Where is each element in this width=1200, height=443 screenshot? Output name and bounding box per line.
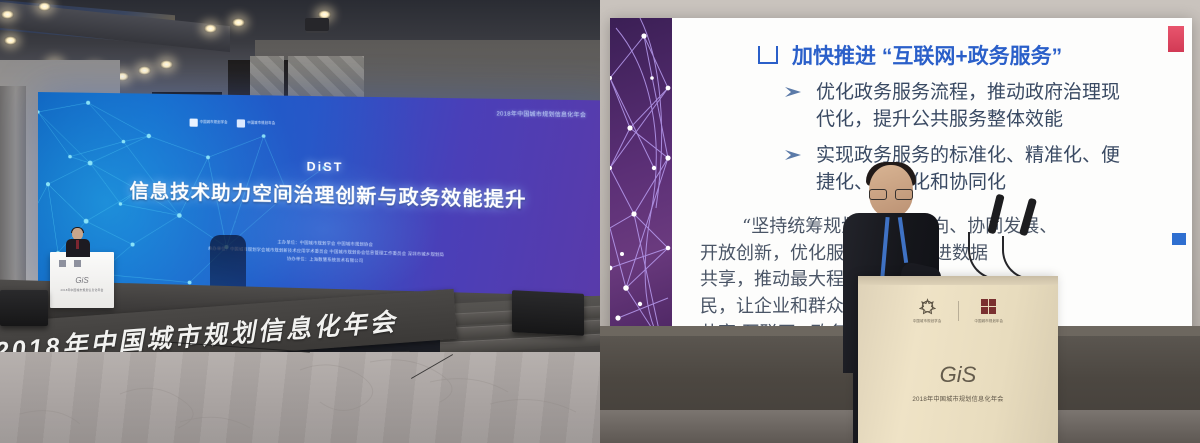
led-logo-row: 中国城市规划学会 中国城市规划年会 <box>190 119 276 129</box>
purple-network-graphic <box>610 18 672 348</box>
podium-top-edge <box>858 276 1058 285</box>
logo-divider <box>958 301 959 321</box>
glasses-icon <box>869 189 913 198</box>
seated-silhouette <box>210 235 246 290</box>
slide-quote-line: “坚持统筹规划、问题导向、协同发展、 <box>700 214 1186 241</box>
review-logo-text: 中国城市规划年会 <box>975 318 1004 323</box>
downlight <box>1 10 14 19</box>
society-logo-text: 中国城市规划学会 <box>913 318 942 323</box>
dist-brand-text: DiST <box>307 159 344 174</box>
slide-quote-line: 开放创新，优化服务方式，推进数据 <box>700 241 1186 268</box>
downlight <box>204 24 217 33</box>
slide-line: 优化政务服务流程，推动政府治理现 <box>816 82 1120 103</box>
china-city-planning-review-logo: 中国城市规划年会 <box>237 119 275 128</box>
podium-caption: 2018年中国城市规划信息化年会 <box>50 288 114 292</box>
downlight <box>38 2 51 11</box>
society-logo-text: 中国城市规划学会 <box>200 121 228 125</box>
slide-heading: 加快推进 “互联网+政务服务” <box>758 40 1062 70</box>
podium-logo-mark <box>74 260 81 267</box>
podium-caption: 2018年中国城市规划信息化年会 <box>858 394 1058 403</box>
slide-bullet-1-text: 优化政务服务流程，推动政府治理现 代化，提升公共服务整体效能 <box>816 80 1120 134</box>
slide-heading-text: 加快推进 “互联网+政务服务” <box>792 40 1062 70</box>
arrow-bullet-icon <box>784 85 804 134</box>
podium-logo-row <box>59 260 81 267</box>
ceiling-projector <box>305 18 329 31</box>
review-logo-text: 中国城市规划年会 <box>247 122 275 126</box>
arrow-bullet-icon <box>784 148 804 197</box>
china-urban-planning-society-logo: 中国城市规划学会 <box>913 298 942 323</box>
gis-mark: GiS <box>50 276 114 285</box>
gis-mark: GiS <box>858 362 1058 388</box>
slide-side-panel <box>610 18 672 348</box>
downlight <box>4 36 17 45</box>
floor-monitor <box>0 290 48 326</box>
slide-bullet-2: 实现政务服务的标准化、精准化、便 捷化、平台化和协同化 <box>784 143 1120 197</box>
slide-line: 实现政务服务的标准化、精准化、便 <box>816 145 1120 166</box>
conference-hall-wide-shot: 2018年中国城市规划信息化年会 中国城市规划学会 中国城市规划年会 DiST … <box>0 0 600 443</box>
china-city-planning-review-logo: 中国城市规划年会 <box>975 298 1004 323</box>
review-logo-mark <box>237 119 245 127</box>
downlight <box>138 66 151 75</box>
china-urban-planning-society-logo: 中国城市规划学会 <box>190 119 228 128</box>
led-top-banner: 2018年中国城市规划信息化年会 <box>496 109 586 119</box>
slide-line: 代化，提升公共服务整体效能 <box>816 109 1063 130</box>
downlight <box>160 60 173 69</box>
podium-right: 中国城市规划学会 中国城市规划年会 GiS 2018年中国城市规划信息化年会 <box>858 276 1058 443</box>
speaker-presentation-slide: 加快推进 “互联网+政务服务” 优化政务服务流程，推动政府治理现 代化，提升公共… <box>600 0 1200 443</box>
square-bullet-icon <box>758 46 778 64</box>
led-screen: 2018年中国城市规划信息化年会 中国城市规划学会 中国城市规划年会 DiST … <box>38 92 600 308</box>
stage-monitor-speaker <box>512 290 584 336</box>
society-logo-mark <box>919 298 936 315</box>
speaker-tie <box>76 240 79 249</box>
podium-logo-mark <box>59 260 66 267</box>
society-logo-mark <box>190 119 198 127</box>
downlight <box>232 18 245 27</box>
review-logo-mark <box>980 298 997 315</box>
carpet-pattern <box>0 352 600 443</box>
podium-logo-row: 中国城市规划学会 中国城市规划年会 <box>858 298 1058 323</box>
ballroom-carpet <box>0 352 600 443</box>
screenshot-root: 2018年中国城市规划信息化年会 中国城市规划学会 中国城市规划年会 DiST … <box>0 0 1200 443</box>
slide-bullet-1: 优化政务服务流程，推动政府治理现 代化，提升公共服务整体效能 <box>784 80 1120 134</box>
speaker-at-podium <box>66 228 90 256</box>
podium-left: GiS 2018年中国城市规划信息化年会 <box>50 252 114 308</box>
